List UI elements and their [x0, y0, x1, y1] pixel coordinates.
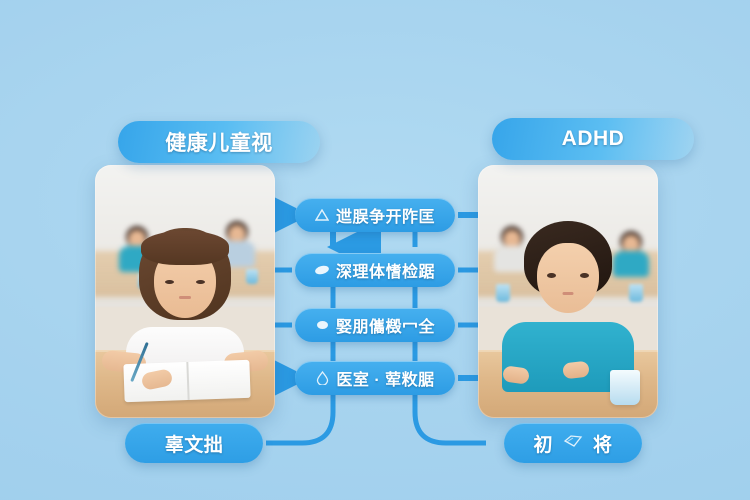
header-label-healthy-child[interactable]: 健康儿童视 [118, 121, 320, 163]
footer-left-text: 辜文拙 [165, 430, 224, 457]
diamond-book-icon [563, 434, 583, 453]
comparison-row-4-label: 医室 · 荤敉腒 [336, 366, 434, 390]
drop-icon [315, 371, 330, 386]
photo-card-healthy-child[interactable] [95, 165, 275, 418]
comparison-row-3-label: 婜朋儶檓冖全 [336, 313, 435, 337]
girl-fringe [141, 231, 229, 265]
comparison-row-1-label: 迣脵争开阼匡 [336, 203, 435, 227]
header-left-text: 健康儿童视 [165, 127, 273, 157]
classroom-scene-right [478, 165, 658, 418]
triangle-icon [315, 208, 330, 223]
comparison-row-3[interactable]: 婜朋儶檓冖全 [295, 308, 455, 342]
boy-face [537, 243, 599, 313]
comparison-row-2-label: 深理体愭检踞 [336, 258, 435, 282]
background-student [611, 231, 651, 279]
dot-icon [315, 318, 330, 333]
curve-to-footer-left [266, 395, 333, 443]
header-right-text: ADHD [562, 127, 625, 151]
header-label-adhd[interactable]: ADHD [492, 118, 694, 160]
comparison-row-2[interactable]: 深理体愭检踞 [295, 253, 455, 287]
oval-icon [315, 263, 330, 278]
infographic-canvas: 健康儿童视 ADHD 迣脵争开阼匡 深理体愭检踞 婜朋儶檓冖全 医室 · 荤敉腒 [0, 0, 750, 500]
footer-right-suffix: 将 [593, 430, 613, 457]
footer-label-left[interactable]: 辜文拙 [125, 423, 263, 463]
paper-cup [610, 370, 640, 405]
photo-card-adhd-child[interactable] [478, 165, 658, 418]
footer-label-right[interactable]: 初 将 [504, 423, 642, 463]
footer-right-prefix: 初 [533, 430, 553, 457]
classroom-scene-left [95, 165, 275, 418]
boy-hand-right [562, 360, 590, 379]
comparison-row-4[interactable]: 医室 · 荤敉腒 [295, 361, 455, 395]
curve-to-footer-right [415, 395, 486, 443]
comparison-row-1[interactable]: 迣脵争开阼匡 [295, 198, 455, 232]
